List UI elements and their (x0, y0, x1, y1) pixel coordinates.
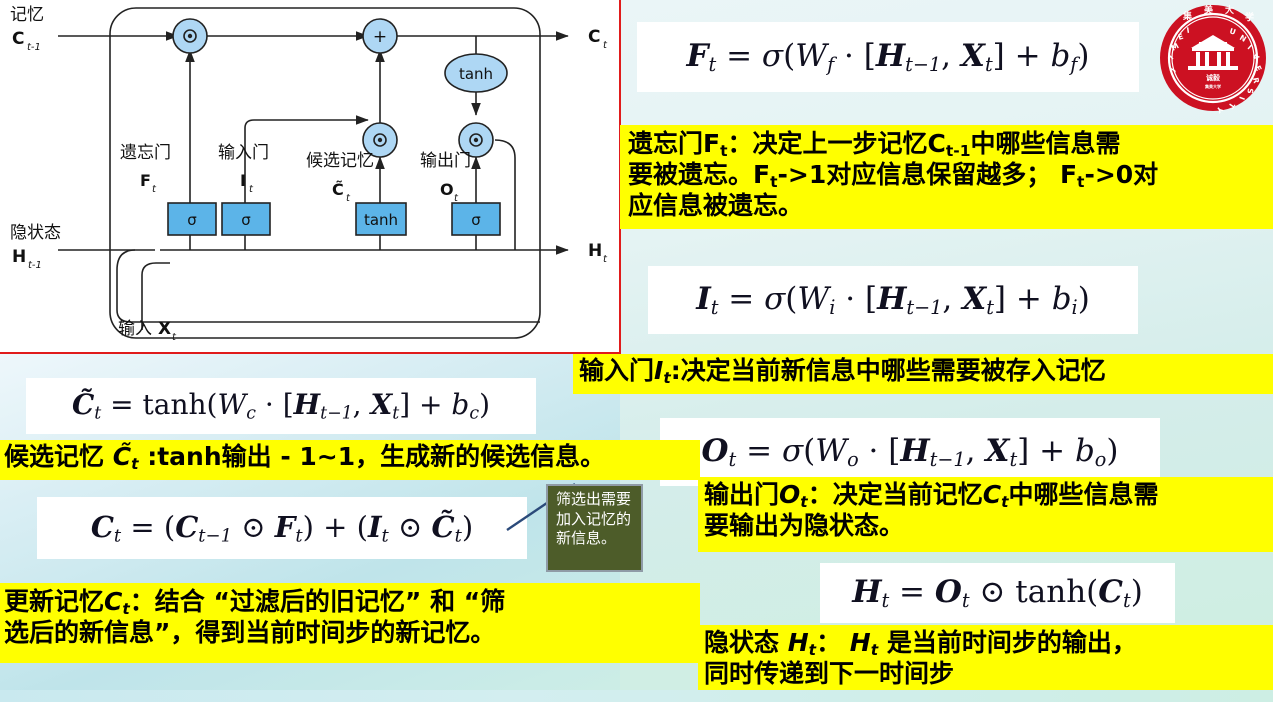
svg-text:σ: σ (241, 211, 251, 229)
label-input-gate: 输入门 (218, 143, 269, 163)
svg-text:t-1: t-1 (27, 42, 41, 53)
svg-text:σ: σ (187, 211, 197, 229)
formula-cell-state: Ct = (Ct−1 ⊙ Ft) + (It ⊙ C̃t) (37, 497, 527, 559)
label-memory-out: C (588, 27, 600, 47)
note-cell-line1: 更新记忆Ct：结合 “过滤后的旧记忆” 和 “筛 (4, 587, 700, 618)
note-hidden-line2: 同时传递到下一时间步 (704, 659, 1273, 689)
svg-text:H: H (12, 247, 26, 267)
note-output-line1: 输出门Ot：决定当前记忆Ct中哪些信息需 (704, 480, 1273, 511)
horizontal-red-divider (0, 352, 621, 354)
label-forget-gate: 遗忘门 (120, 143, 171, 163)
callout-new-info: 筛选出需要 加入记忆的 新信息。 (546, 484, 643, 572)
note-cell-line2: 选后的新信息”，得到当前时间步的新记忆。 (4, 618, 700, 648)
svg-text:t: t (603, 254, 608, 265)
svg-text:O: O (440, 180, 454, 199)
note-input-text: 输入门It:决定当前新信息中哪些需要被存入记忆 (579, 356, 1106, 385)
svg-text:tanh: tanh (459, 65, 493, 83)
svg-text:S: S (1245, 88, 1255, 94)
bottom-gradient-strip (0, 690, 1273, 702)
svg-text:σ: σ (471, 211, 481, 229)
slide-canvas: + tanh σ σ tanh σ 记忆 C t-1 (0, 0, 1273, 702)
formula-candidate-memory: C̃t = tanh(Wc · [Ht−1, Xt] + bc) (26, 378, 536, 434)
svg-text:诚毅: 诚毅 (1206, 73, 1221, 82)
label-candidate-memory: 候选记忆 (306, 151, 374, 171)
note-candidate-text: 候选记忆 C̃t :tanh输出 - 1~1，生成新的候选信息。 (4, 442, 605, 471)
formula-input-gate: It = σ(Wi · [Ht−1, Xt] + bi) (648, 266, 1138, 334)
formula-hidden-state: Ht = Ot ⊙ tanh(Ct) (820, 563, 1175, 623)
note-hidden-line1: 隐状态 Ht： Ht 是当前时间步的输出， (704, 628, 1273, 659)
svg-text:t: t (152, 184, 157, 195)
svg-text:集美大学: 集美大学 (1204, 83, 1221, 89)
callout-line1: 筛选出需要 (556, 490, 635, 510)
svg-text:t-1: t-1 (28, 260, 42, 271)
svg-text:集: 集 (1182, 10, 1193, 22)
note-candidate-memory: 候选记忆 C̃t :tanh输出 - 1~1，生成新的候选信息。 (0, 440, 700, 480)
note-forget-line2: 要被遗忘。Ft->1对应信息保留越多； Ft->0对 (628, 160, 1271, 191)
svg-text:美: 美 (1204, 4, 1214, 16)
note-cell-update: 更新记忆Ct：结合 “过滤后的旧记忆” 和 “筛 选后的新信息”，得到当前时间步… (0, 583, 700, 663)
svg-text:t: t (249, 184, 254, 195)
label-output-gate: 输出门 (420, 151, 471, 171)
svg-text:大: 大 (1225, 4, 1234, 16)
label-memory-in: 记忆 (10, 5, 44, 25)
lstm-cell-diagram: + tanh σ σ tanh σ 记忆 C t-1 (0, 0, 620, 352)
note-output-line2: 要输出为隐状态。 (704, 511, 1273, 541)
note-input-gate: 输入门It:决定当前新信息中哪些需要被存入记忆 (573, 354, 1273, 394)
callout-line3: 新信息。 (556, 529, 635, 549)
note-output-gate: 输出门Ot：决定当前记忆Ct中哪些信息需 要输出为隐状态。 (698, 477, 1273, 552)
svg-text:I: I (240, 171, 246, 190)
svg-text:学: 学 (1245, 11, 1254, 23)
svg-text:X: X (158, 319, 171, 339)
svg-text:+: + (373, 27, 387, 47)
svg-text:t: t (346, 193, 351, 204)
svg-text:C̃: C̃ (332, 180, 344, 199)
note-forget-gate: 遗忘门Ft：决定上一步记忆Ct-1中哪些信息需 要被遗忘。Ft->1对应信息保留… (620, 125, 1273, 229)
svg-text:F: F (140, 171, 151, 190)
label-hidden-out: H (588, 241, 602, 261)
callout-line2: 加入记忆的 (556, 510, 635, 530)
jimei-university-logo: 诚毅 集美大学 J I M E I U N I V E R S I T Y 集美… (1157, 2, 1269, 114)
label-input-x: 输入 (118, 319, 152, 339)
svg-text:tanh: tanh (364, 211, 398, 229)
formula-forget-gate: Ft = σ(Wf · [Ht−1, Xt] + bf) (637, 22, 1139, 92)
formula-output-gate: Ot = σ(Wo · [Ht−1, Xt] + bo) (660, 418, 1160, 486)
svg-text:t: t (603, 40, 608, 51)
svg-text:C: C (12, 29, 24, 49)
note-forget-line3: 应信息被遗忘。 (628, 191, 1271, 221)
note-forget-line1: 遗忘门Ft：决定上一步记忆Ct-1中哪些信息需 (628, 129, 1271, 160)
label-hidden-in: 隐状态 (10, 223, 61, 243)
